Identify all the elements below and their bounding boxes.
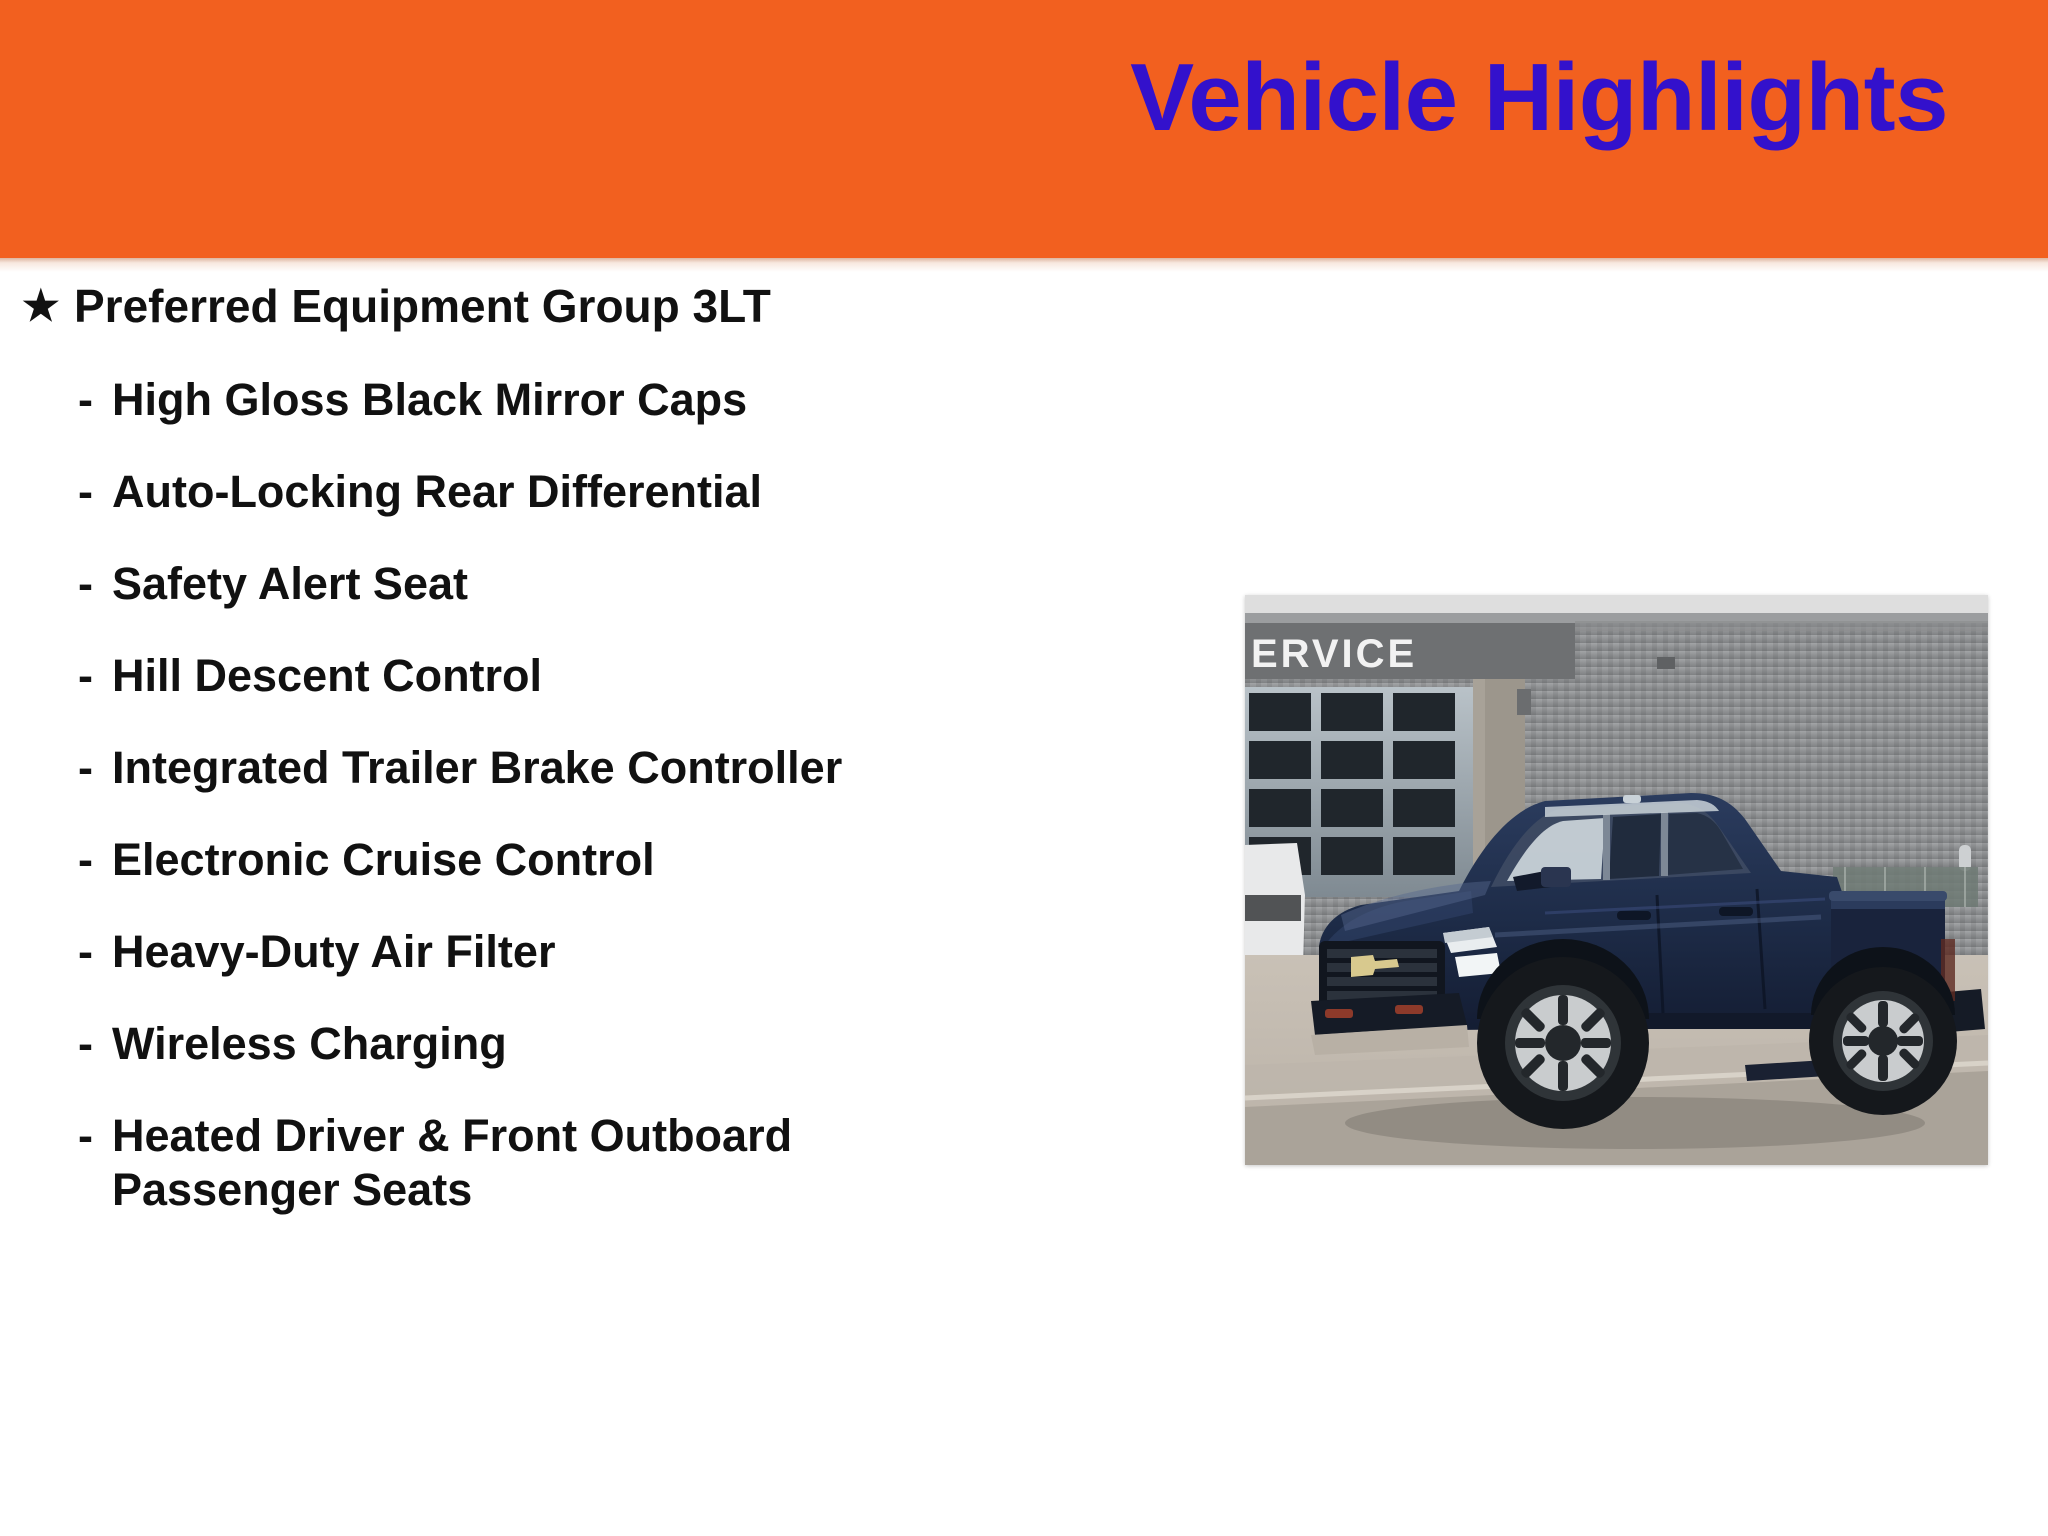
dash-bullet-icon: -	[78, 833, 112, 887]
list-item-label: Hill Descent Control	[112, 649, 542, 703]
list-item-label: Integrated Trailer Brake Controller	[112, 741, 842, 795]
dash-bullet-icon: -	[78, 649, 112, 703]
list-item-label: High Gloss Black Mirror Caps	[112, 373, 747, 427]
presentation-slide: Vehicle Highlights ★ Preferred Equipment…	[0, 0, 2048, 1536]
dash-bullet-icon: -	[78, 1109, 112, 1163]
page-title: Vehicle Highlights	[1130, 48, 1948, 149]
list-item: - High Gloss Black Mirror Caps	[78, 373, 747, 427]
list-item: - Wireless Charging	[78, 1017, 507, 1071]
dash-bullet-icon: -	[78, 465, 112, 519]
list-item-label: Electronic Cruise Control	[112, 833, 655, 887]
dash-bullet-icon: -	[78, 373, 112, 427]
list-item: - Heated Driver & Front Outboard Passeng…	[78, 1109, 792, 1217]
list-item: - Integrated Trailer Brake Controller	[78, 741, 842, 795]
highlights-list: ★ Preferred Equipment Group 3LT - High G…	[0, 272, 1220, 1536]
dash-bullet-icon: -	[78, 925, 112, 979]
list-item-label: Wireless Charging	[112, 1017, 507, 1071]
list-item: - Auto-Locking Rear Differential	[78, 465, 762, 519]
list-item-label: Heavy-Duty Air Filter	[112, 925, 555, 979]
list-item-label: Heated Driver & Front Outboard Passenger…	[112, 1109, 792, 1217]
dash-bullet-icon: -	[78, 1017, 112, 1071]
dash-bullet-icon: -	[78, 741, 112, 795]
list-item: - Safety Alert Seat	[78, 557, 468, 611]
star-bullet-icon: ★	[22, 282, 74, 329]
list-item: - Electronic Cruise Control	[78, 833, 655, 887]
list-item: - Hill Descent Control	[78, 649, 542, 703]
list-item-label: Auto-Locking Rear Differential	[112, 465, 762, 519]
vehicle-photo: ERVICE	[1245, 595, 1988, 1165]
list-item: ★ Preferred Equipment Group 3LT	[22, 282, 771, 332]
dash-bullet-icon: -	[78, 557, 112, 611]
list-item: - Heavy-Duty Air Filter	[78, 925, 555, 979]
header-shadow	[0, 258, 2048, 272]
service-sign-text: ERVICE	[1251, 632, 1417, 676]
list-item-label: Safety Alert Seat	[112, 557, 468, 611]
list-item-label: Preferred Equipment Group 3LT	[74, 282, 771, 332]
